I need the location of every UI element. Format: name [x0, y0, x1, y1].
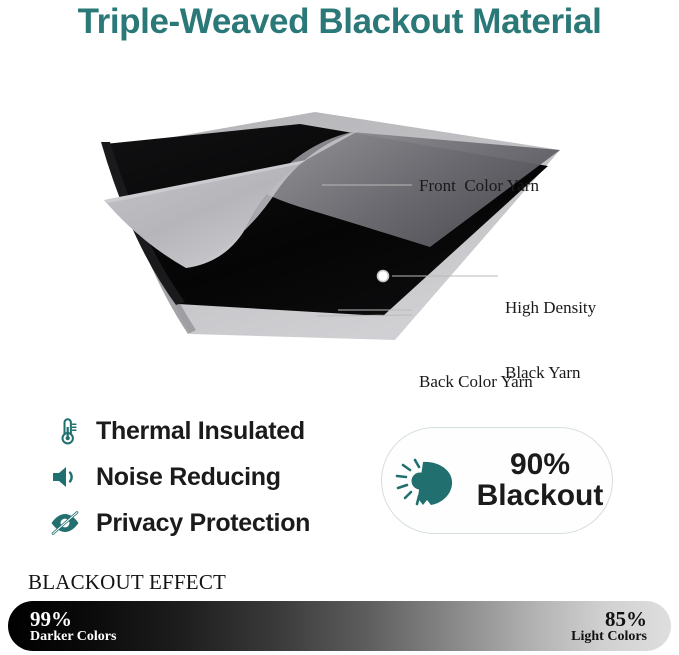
feature-item-privacy: Privacy Protection — [48, 500, 378, 546]
label-high-line1: High Density — [505, 297, 596, 319]
label-back-color-yarn: Back Color Yarn — [419, 371, 533, 393]
feature-label-noise: Noise Reducing — [96, 463, 281, 492]
eye-off-icon — [48, 506, 82, 540]
thermometer-icon — [48, 414, 82, 448]
feature-list: Thermal Insulated Noise Reducing Privacy… — [48, 408, 378, 546]
feature-item-thermal: Thermal Insulated — [48, 408, 378, 454]
effect-right-group: 85% Light Colors — [571, 601, 647, 651]
blackout-badge: 90% Blackout — [381, 427, 613, 534]
leader-marker-dot — [378, 271, 389, 282]
feature-label-privacy: Privacy Protection — [96, 509, 310, 538]
speaker-icon — [48, 460, 82, 494]
effect-left-percent: 99% — [30, 608, 72, 630]
effect-left-group: 99% Darker Colors — [30, 601, 116, 651]
effect-left-sublabel: Darker Colors — [30, 630, 116, 645]
fabric-layer-diagram: Front Color Yarn High Density Black Yarn… — [0, 72, 679, 362]
badge-word: Blackout — [477, 481, 604, 512]
effect-right-sublabel: Light Colors — [571, 630, 647, 645]
badge-text-block: 90% Blackout — [477, 450, 604, 511]
blackout-effect-heading: BLACKOUT EFFECT — [28, 570, 226, 595]
badge-percent: 90% — [510, 450, 570, 481]
blackout-effect-gradient-bar: 99% Darker Colors 85% Light Colors — [8, 601, 671, 651]
effect-right-percent: 85% — [605, 608, 647, 630]
label-front-color-yarn: Front Color Yarn — [419, 175, 539, 197]
page-title: Triple-Weaved Blackout Material — [0, 2, 679, 42]
sun-behind-curtain-icon — [391, 449, 465, 513]
label-high-density-black-yarn: High Density Black Yarn — [505, 253, 596, 427]
feature-label-thermal: Thermal Insulated — [96, 417, 305, 446]
feature-item-noise: Noise Reducing — [48, 454, 378, 500]
